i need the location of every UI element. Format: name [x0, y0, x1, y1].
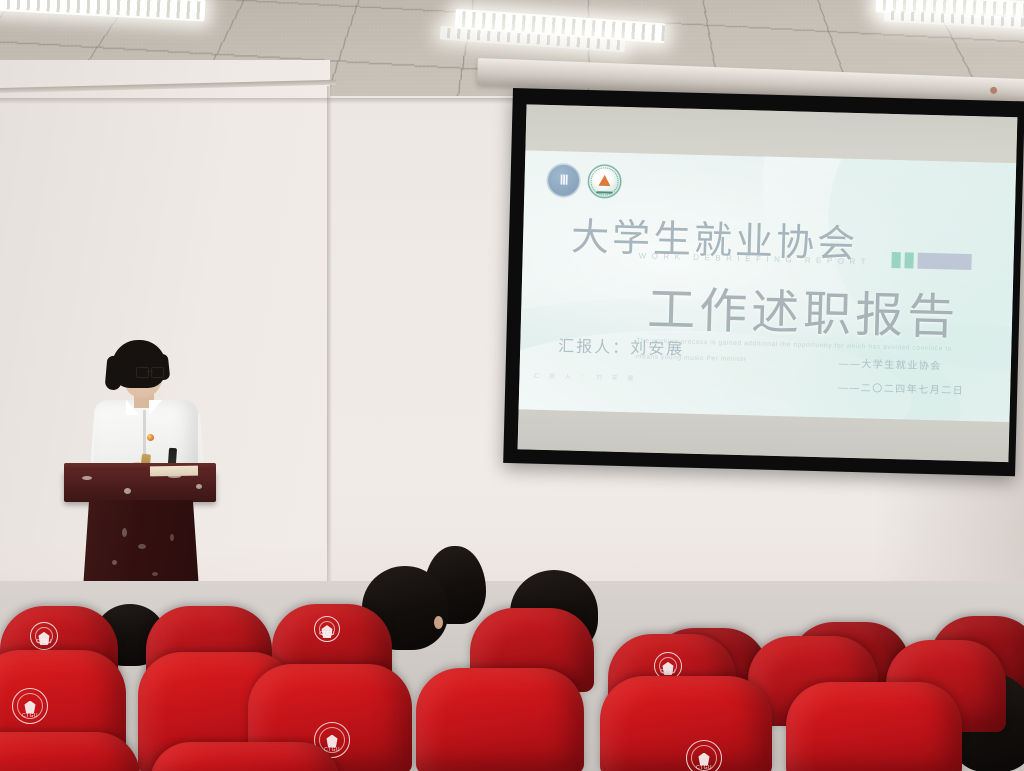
slide-meta-organization: ——大学生就业协会 — [838, 355, 965, 373]
chair-logo: CTGU — [12, 688, 48, 724]
slide-logos: Ⅲ — [546, 163, 622, 199]
chair-logo: CTGU — [314, 616, 340, 642]
podium-papers — [150, 466, 198, 477]
deco-bar-gray — [917, 253, 971, 270]
chair-logo-text: CTGU — [319, 631, 335, 637]
projector-screen-frame: Ⅲ 大学生就业协会 WORK DEBRIEFING REPORT 工作述职报告 … — [503, 88, 1024, 476]
presenter-hair — [112, 340, 166, 388]
chair-row2-5: CTGU — [600, 676, 772, 771]
chair-row2-4: 學院 — [416, 668, 584, 771]
chair-logo-text: CTGU — [660, 669, 676, 675]
blue-circle-logo: Ⅲ — [546, 163, 581, 198]
chair-logo-text: CTGU — [36, 639, 52, 645]
audience-ear-2 — [434, 616, 443, 629]
deco-bar-teal-2 — [904, 252, 913, 268]
slide-reporter: 汇报人：刘安展 — [558, 332, 685, 359]
chair-row1-2 — [150, 742, 340, 771]
slide-decorative-bars — [891, 252, 971, 270]
lecture-hall-photo: Ⅲ 大学生就业协会 WORK DEBRIEFING REPORT 工作述职报告 … — [0, 0, 1024, 771]
blue-circle-logo-glyph: Ⅲ — [546, 163, 581, 198]
chair-row1-1 — [0, 732, 140, 771]
chair-logo-text: CTGU — [22, 713, 38, 719]
chair-logo-text: CTGU — [696, 765, 712, 771]
projector-screen-surface: Ⅲ 大学生就业协会 WORK DEBRIEFING REPORT 工作述职报告 … — [518, 104, 1018, 462]
chair-logo: CTGU — [30, 622, 58, 650]
glasses-icon — [136, 367, 164, 376]
chair-row2-6 — [786, 682, 962, 771]
chair-logo: CTGU — [686, 740, 722, 771]
slide-meta-block: ——大学生就业协会 ——二〇二四年七月二日 — [837, 355, 965, 406]
university-crest-logo — [587, 164, 622, 199]
wall-corner — [327, 86, 332, 606]
deco-bar-teal-1 — [891, 252, 900, 268]
slide-meta-date: ——二〇二四年七月二日 — [838, 379, 965, 397]
presentation-slide: Ⅲ 大学生就业协会 WORK DEBRIEFING REPORT 工作述职报告 … — [519, 150, 1017, 422]
presenter-lapel-pin — [147, 434, 154, 441]
